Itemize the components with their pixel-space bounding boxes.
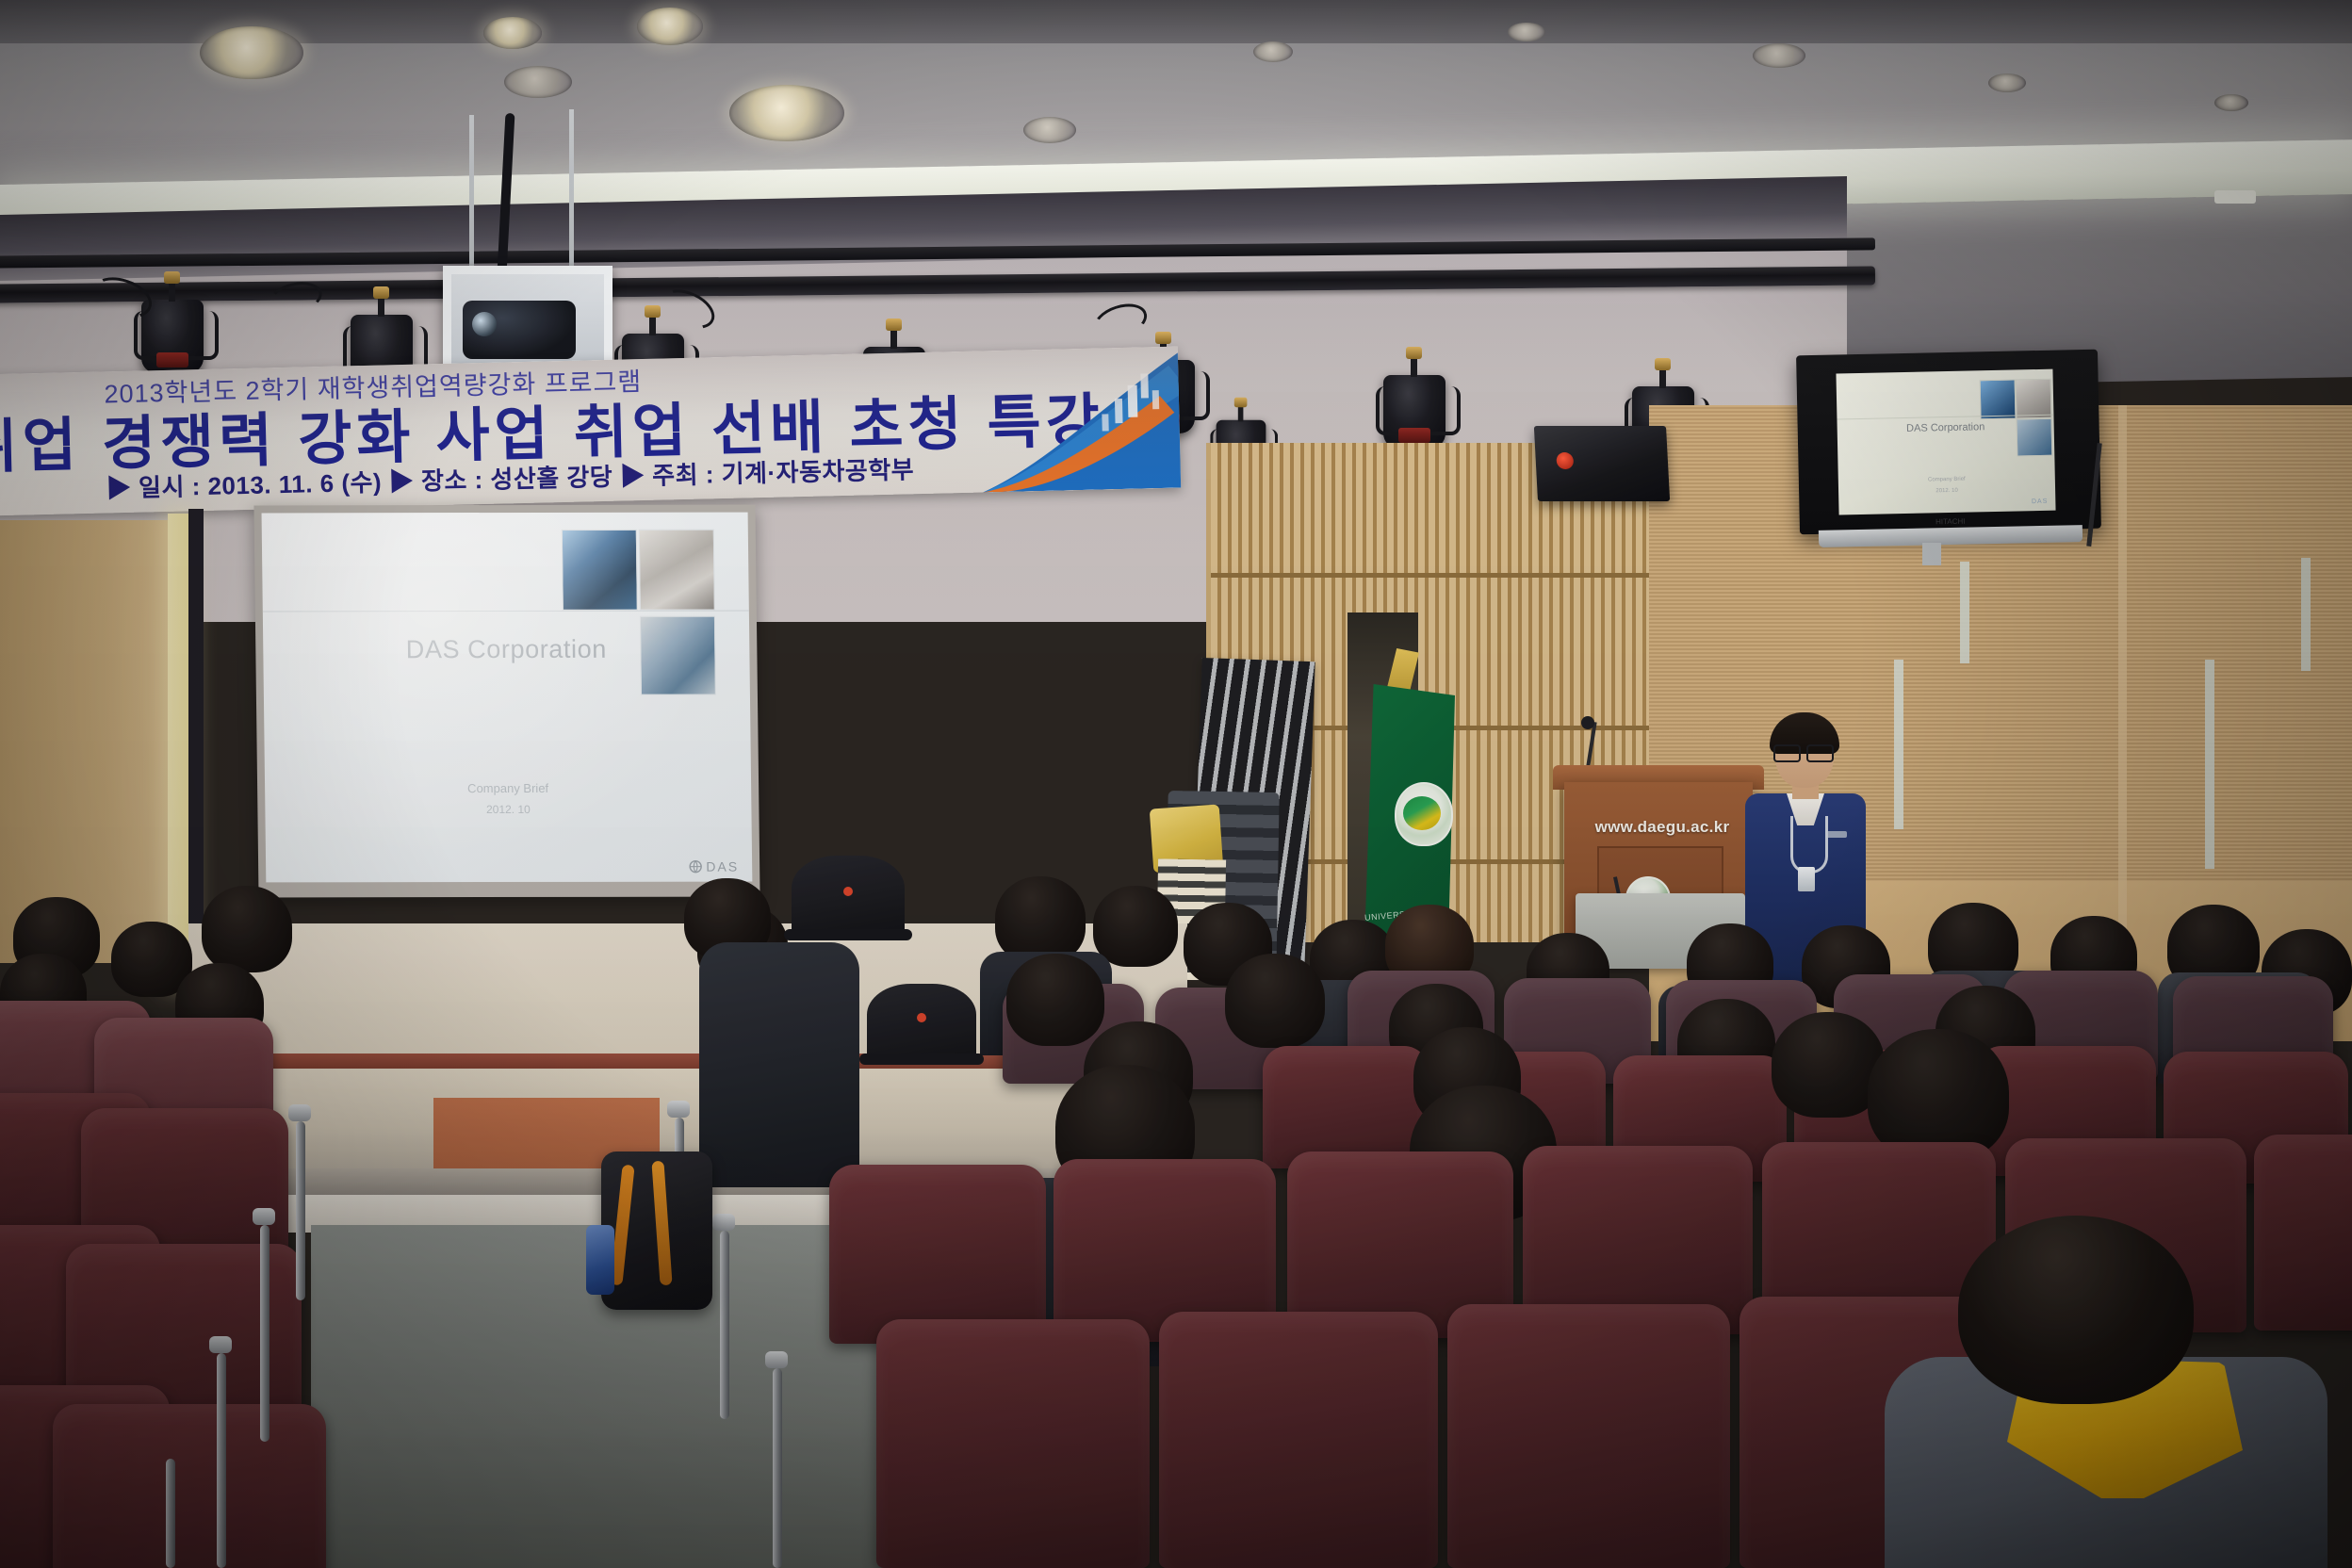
- tv-slide-logo: DAS: [2032, 498, 2049, 505]
- auditorium-seat: [829, 1165, 1046, 1344]
- microphone-head-icon: [1581, 716, 1594, 729]
- cap-logo-icon: [843, 887, 853, 896]
- speaker-led-icon: [1556, 452, 1574, 469]
- audience-head: [1006, 954, 1104, 1046]
- jacket-logo: [1826, 831, 1847, 838]
- downlight-icon: [200, 26, 303, 79]
- audience-head: [1868, 1029, 2009, 1161]
- backpack: [601, 1151, 712, 1310]
- seat-armrest-rail: [720, 1231, 729, 1419]
- tv-mount-neck: [1922, 543, 1941, 565]
- downlight-icon: [1508, 23, 1545, 41]
- foreground-student: [1885, 1216, 2327, 1568]
- seat-armrest-rail: [166, 1459, 175, 1568]
- wall-accent-strip: [2205, 660, 2214, 869]
- downlight-icon: [1253, 41, 1293, 62]
- seat-armrest-joint: [288, 1104, 311, 1121]
- tv-slide-thumbnail: [2016, 379, 2052, 419]
- audience-head: [1093, 886, 1178, 967]
- auditorium-photo: 2013학년도 2학기 재학생취업역량강화 프로그램 취업 경쟁력 강화 사업 …: [0, 0, 2352, 1568]
- projector-hanger-rod: [469, 115, 474, 273]
- podium-url-label: www.daegu.ac.kr: [1577, 818, 1747, 837]
- projected-slide: DAS Corporation Company Brief 2012. 10 D…: [262, 513, 753, 883]
- audience-jacket: [699, 942, 859, 1187]
- seat-armrest-rail: [217, 1353, 226, 1568]
- downlight-icon: [483, 17, 542, 49]
- wall-accent-strip: [1894, 660, 1903, 829]
- downlight-icon: [637, 8, 703, 45]
- audience-head: [995, 876, 1086, 963]
- downlight-icon: [729, 85, 844, 141]
- event-banner: 2013학년도 2학기 재학생취업역량강화 프로그램 취업 경쟁력 강화 사업 …: [0, 347, 1181, 516]
- glasses-icon: [1773, 744, 1834, 759]
- left-wall-light-strip: [168, 514, 190, 985]
- seat-armrest-joint: [667, 1101, 690, 1118]
- downlight-icon: [504, 66, 572, 98]
- cap-logo-icon: [917, 1013, 926, 1022]
- seat-armrest-rail: [296, 1121, 305, 1300]
- baseball-cap: [867, 984, 976, 1061]
- left-wood-wall: [0, 520, 179, 963]
- baseball-cap: [792, 856, 905, 937]
- ceiling-vent: [2214, 190, 2256, 204]
- left-wall-dark-edge: [188, 509, 204, 985]
- downlight-icon: [1988, 73, 2026, 92]
- water-bottle: [586, 1225, 614, 1295]
- seat-armrest-joint: [765, 1351, 788, 1368]
- auditorium-seat: [876, 1319, 1150, 1568]
- cap-brim: [859, 1053, 984, 1065]
- ceiling-dark-band: [0, 0, 2352, 43]
- tv-screen: DAS Corporation Company Brief 2012. 10 D…: [1836, 369, 2055, 515]
- tv-slide-date: 2012. 10: [1838, 486, 2055, 497]
- seat-armrest-joint: [253, 1208, 275, 1225]
- stage-light-icon: [141, 300, 204, 373]
- student-head: [1958, 1216, 2194, 1404]
- wall-mounted-tv: DAS Corporation Company Brief 2012. 10 D…: [1796, 350, 2101, 535]
- seat-armrest-rail: [260, 1225, 269, 1442]
- lanyard: [1790, 816, 1828, 874]
- seat-armrest-joint: [712, 1214, 735, 1231]
- audience-head: [202, 886, 292, 972]
- auditorium-seat: [1447, 1304, 1730, 1568]
- auditorium-seat: [1263, 1046, 1429, 1168]
- backpack-strap: [651, 1161, 672, 1286]
- auditorium-seat: [53, 1404, 326, 1568]
- seat-armrest-joint: [209, 1336, 232, 1353]
- downlight-icon: [1023, 117, 1076, 143]
- slat-gap: [1211, 573, 1654, 578]
- wall-accent-strip: [1960, 562, 1969, 663]
- downlight-icon: [1753, 43, 1805, 68]
- projector-hanger-rod: [569, 109, 574, 273]
- projection-screen: DAS Corporation Company Brief 2012. 10 D…: [253, 505, 759, 898]
- stage-light-icon: [1383, 375, 1445, 449]
- id-badge: [1798, 867, 1815, 891]
- banner-shadow-overlay: [0, 347, 1181, 516]
- audience-head: [1225, 954, 1325, 1048]
- seat-armrest-rail: [773, 1368, 782, 1568]
- flag-emblem-inner-icon: [1403, 796, 1441, 830]
- tv-slide-thumbnail: [1980, 380, 2017, 420]
- screen-glare: [262, 513, 753, 883]
- projector-lens-icon: [472, 312, 497, 336]
- cap-brim: [784, 929, 912, 940]
- wall-accent-strip: [2301, 558, 2311, 671]
- auditorium-seat: [1159, 1312, 1438, 1568]
- wall-speaker: [1534, 426, 1670, 501]
- tv-slide-subtitle: Company Brief: [1838, 475, 2055, 485]
- downlight-icon: [2214, 94, 2248, 111]
